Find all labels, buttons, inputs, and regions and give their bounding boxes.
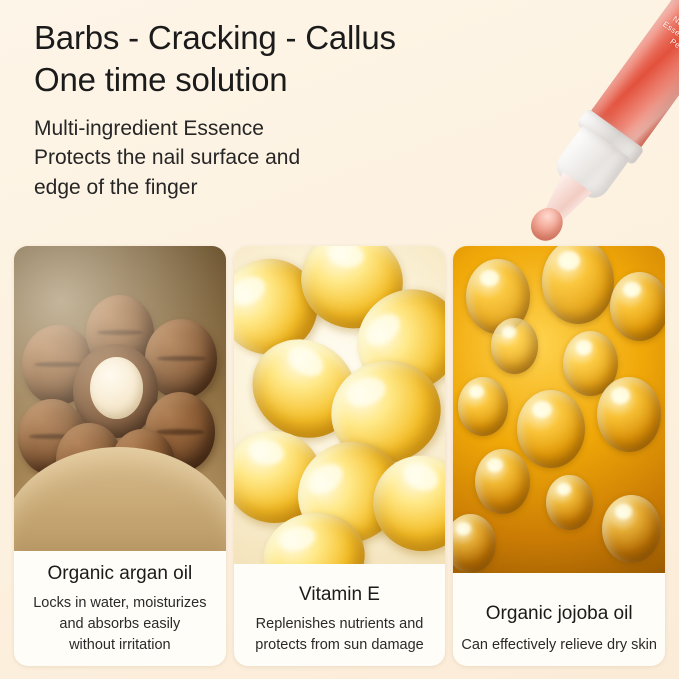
pen-neck [551,125,631,204]
oil-bubbles-image [453,246,665,573]
subheadline-line-1: Multi-ingredient Essence [34,114,554,144]
subheadline-line-2: Protects the nail surface and [34,143,554,173]
bubble-shape [517,390,585,468]
bubble-shape [491,318,538,374]
bubble-shape [610,272,665,341]
card-desc-line-3: without irritation [22,635,218,656]
card-desc-line-1: Can effectively relieve dry skin [461,635,657,656]
bubble-shape [542,246,614,324]
card-title: Organic argan oil [22,563,218,586]
argan-oil-photo [14,246,226,551]
macadamia-nuts-image [14,246,226,551]
vitamin-e-photo [234,246,446,564]
card-description: Can effectively relieve dry skin [461,635,657,656]
card-title: Organic jojoba oil [461,603,657,626]
softgel-capsules-image [234,246,446,564]
card-description: Replenishes nutrients and protects from … [242,614,438,656]
card-desc-line-2: and absorbs easily [22,614,218,635]
ingredient-cards-row: Organic argan oil Locks in water, moistu… [14,246,665,666]
bubble-shape [597,377,661,452]
bubble-shape [453,514,495,573]
jojoba-oil-caption: Organic jojoba oil Can effectively relie… [453,573,665,666]
pen-barrel-top [674,0,679,34]
argan-oil-caption: Organic argan oil Locks in water, moistu… [14,551,226,666]
card-desc-line-1: Locks in water, moisturizes [22,593,218,614]
headline-secondary: One time solution [34,60,554,100]
card-desc-line-1: Replenishes nutrients and [242,614,438,635]
product-advertisement: Barbs - Cracking - Callus One time solut… [0,0,679,679]
bubble-shape [475,449,530,514]
bubble-shape [602,495,661,564]
pen-barrel [589,0,679,150]
subheadline-block: Multi-ingredient Essence Protects the na… [34,114,554,203]
bubble-shape [546,475,593,531]
subheadline-line-3: edge of the finger [34,173,554,203]
ingredient-card-jojoba-oil: Organic jojoba oil Can effectively relie… [453,246,665,666]
card-title: Vitamin E [242,584,438,607]
header-text-block: Barbs - Cracking - Callus One time solut… [34,18,554,203]
jojoba-oil-photo [453,246,665,573]
pen-label-text: Nail Care Essence Oil Pen [643,9,679,78]
card-description: Locks in water, moisturizes and absorbs … [22,593,218,656]
ingredient-card-argan-oil: Organic argan oil Locks in water, moistu… [14,246,226,666]
vitamin-e-caption: Vitamin E Replenishes nutrients and prot… [234,564,446,666]
pen-collar-ring [576,108,644,165]
ingredient-card-vitamin-e: Vitamin E Replenishes nutrients and prot… [234,246,446,666]
bubble-shape [458,377,509,436]
pen-brush-tip [525,202,569,247]
photo-highlight [14,246,226,551]
headline-primary: Barbs - Cracking - Callus [34,18,554,58]
card-desc-line-2: protects from sun damage [242,635,438,656]
